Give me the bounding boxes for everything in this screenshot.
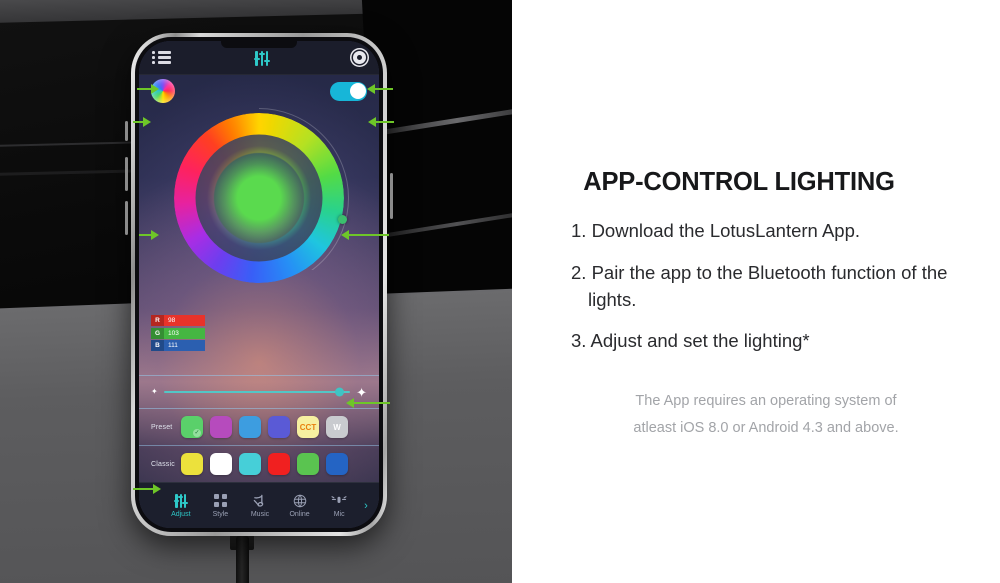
power-toggle[interactable] — [330, 82, 367, 101]
small-star-icon: ✦ — [151, 388, 158, 396]
nav-label-online: Online — [289, 511, 309, 518]
rgb-key-red: R — [151, 315, 164, 326]
nav-item-music[interactable]: Music — [240, 493, 280, 518]
rgb-row-red: R 98 — [151, 315, 205, 326]
step-2: 2. Pair the app to the Bluetooth functio… — [568, 260, 978, 314]
brightness-track[interactable] — [164, 391, 350, 394]
footnote: The App requires an operating system of … — [552, 388, 980, 442]
swatch-section: Preset CCT W — [139, 409, 379, 482]
sliders-icon — [175, 493, 186, 508]
classic-label: Classic — [151, 461, 181, 468]
nav-item-style[interactable]: Style — [201, 493, 241, 518]
product-photo: R 98 G 103 B 111 — [0, 0, 512, 583]
sliders-icon[interactable] — [255, 50, 268, 66]
nav-label-style: Style — [213, 511, 229, 518]
color-wheel[interactable] — [174, 113, 344, 283]
nav-label-music: Music — [251, 511, 269, 518]
music-note-icon — [252, 493, 267, 508]
brightness-slider-row[interactable]: ✦ ✦ — [139, 376, 379, 408]
color-wheel-area: R 98 G 103 B 111 — [139, 107, 379, 373]
mute-switch[interactable] — [125, 121, 128, 141]
classic-swatch-yellow[interactable] — [181, 453, 203, 475]
rgb-value-green: 103 — [164, 328, 205, 339]
phone-screen: R 98 G 103 B 111 — [139, 41, 379, 528]
chevron-right-icon[interactable]: › — [359, 500, 373, 512]
classic-swatch-white[interactable] — [210, 453, 232, 475]
rgb-row-blue: B 111 — [151, 340, 205, 351]
step-3: 3. Adjust and set the lighting* — [568, 328, 978, 355]
app-toggle-row — [139, 75, 379, 107]
smartphone: R 98 G 103 B 111 — [131, 33, 387, 536]
preset-swatch-purple[interactable] — [210, 416, 232, 438]
rgb-value-blue: 111 — [164, 340, 205, 351]
info-panel: APP-CONTROL LIGHTING 1. Download the Lot… — [512, 0, 1000, 583]
classic-swatch-cyan[interactable] — [239, 453, 261, 475]
footnote-line-2: atleast iOS 8.0 or Android 4.3 and above… — [552, 415, 980, 442]
color-wheel-icon[interactable] — [151, 79, 175, 103]
phone-stand-post — [236, 536, 249, 583]
preset-swatches: CCT W — [181, 416, 369, 438]
nav-label-mic: Mic — [334, 511, 345, 518]
rgb-readout: R 98 G 103 B 111 — [151, 315, 205, 351]
wheel-handle[interactable] — [338, 215, 347, 224]
footnote-line-1: The App requires an operating system of — [552, 388, 980, 415]
phone-bezel: R 98 G 103 B 111 — [135, 37, 383, 532]
volume-down-button[interactable] — [125, 201, 128, 235]
lighting-app: R 98 G 103 B 111 — [139, 41, 379, 528]
list-icon[interactable] — [152, 51, 171, 64]
preset-swatch-cct[interactable]: CCT — [297, 416, 319, 438]
wheel-center-preview — [196, 135, 323, 262]
classic-swatch-red[interactable] — [268, 453, 290, 475]
large-star-icon: ✦ — [356, 386, 367, 399]
rgb-key-blue: B — [151, 340, 164, 351]
preset-row: Preset CCT W — [139, 409, 379, 445]
microphone-icon — [331, 493, 347, 508]
gear-icon[interactable] — [353, 51, 366, 64]
nav-label-adjust: Adjust — [171, 511, 190, 518]
classic-swatch-green[interactable] — [297, 453, 319, 475]
preset-label: Preset — [151, 424, 181, 431]
rgb-value-red: 98 — [164, 315, 205, 326]
nav-item-online[interactable]: Online — [280, 493, 320, 518]
preset-swatch-white[interactable]: W — [326, 416, 348, 438]
page-title: APP-CONTROL LIGHTING — [512, 168, 966, 197]
classic-swatches — [181, 453, 369, 475]
brightness-section: ✦ ✦ — [139, 373, 379, 409]
classic-row: Classic — [139, 446, 379, 482]
preset-swatch-green[interactable] — [181, 416, 203, 438]
rgb-row-green: G 103 — [151, 328, 205, 339]
preset-swatch-blue[interactable] — [239, 416, 261, 438]
classic-swatch-blue[interactable] — [326, 453, 348, 475]
power-button[interactable] — [390, 173, 393, 219]
rgb-key-green: G — [151, 328, 164, 339]
nav-item-adjust[interactable]: Adjust — [161, 493, 201, 518]
step-1: 1. Download the LotusLantern App. — [568, 218, 978, 245]
volume-up-button[interactable] — [125, 157, 128, 191]
brightness-handle[interactable] — [335, 388, 344, 397]
nav-item-mic[interactable]: Mic — [319, 493, 359, 518]
grid-icon — [214, 493, 227, 508]
app-bottom-nav: Adjust Style — [139, 482, 379, 528]
toggle-knob — [350, 83, 366, 99]
steps-list: 1. Download the LotusLantern App. 2. Pai… — [568, 218, 978, 370]
globe-icon — [293, 493, 307, 508]
phone-notch — [221, 41, 297, 48]
page-root: R 98 G 103 B 111 — [0, 0, 1000, 583]
preset-swatch-indigo[interactable] — [268, 416, 290, 438]
